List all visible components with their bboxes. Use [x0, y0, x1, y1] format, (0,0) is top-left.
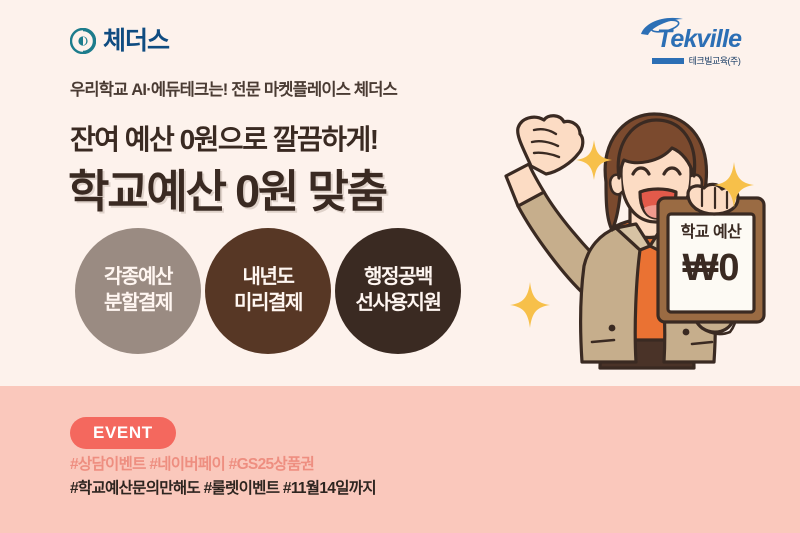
headline-secondary: 학교예산 0원 맞춤 — [68, 155, 386, 220]
promotional-banner: 체더스 Tekville 테크빌교육(주) 우리학교 AI·에듀테크는! 전문 … — [0, 0, 800, 533]
clipboard-title: 학교 예산 — [681, 223, 743, 241]
feature-circle-0-line2: 분할결제 — [104, 291, 172, 317]
feature-circle-2-line1: 행정공백 — [364, 265, 432, 291]
hashtags-line-2: #학교예산문의만해도 #룰렛이벤트 #11월14일까지 — [70, 476, 376, 498]
clipboard-amount: ₩0 — [683, 247, 740, 289]
headline-primary: 잔여 예산 0원으로 깔끔하게! — [70, 118, 378, 158]
brand-name: 체더스 — [103, 29, 169, 54]
partner-subtitle: 테크빌교육(주) — [689, 54, 741, 67]
cheering-woman-illustration: 학교 예산 ₩0 — [488, 100, 800, 390]
feature-circle-1[interactable]: 내년도 미리결제 — [205, 228, 331, 354]
event-badge: EVENT — [70, 417, 176, 449]
partner-logo[interactable]: Tekville 테크빌교육(주) — [637, 26, 755, 67]
feature-circle-0[interactable]: 각종예산 분할결제 — [75, 228, 201, 354]
tagline: 우리학교 AI·에듀테크는! 전문 마켓플레이스 체더스 — [70, 76, 397, 100]
feature-circle-2[interactable]: 행정공백 선사용지원 — [335, 228, 461, 354]
feature-circle-1-line2: 미리결제 — [234, 291, 302, 317]
sparkle-icon — [510, 282, 550, 328]
partner-rule — [652, 58, 684, 64]
feature-circle-0-line1: 각종예산 — [104, 265, 172, 291]
brand-logo[interactable]: 체더스 — [70, 28, 169, 54]
feature-circle-2-line2: 선사용지원 — [356, 291, 441, 317]
swoosh-icon — [639, 17, 693, 37]
feature-circle-1-line1: 내년도 — [243, 265, 294, 291]
hashtags-line-1: #상담이벤트 #네이버페이 #GS25상품권 — [70, 452, 314, 474]
circle-c-logo-icon — [70, 28, 96, 54]
